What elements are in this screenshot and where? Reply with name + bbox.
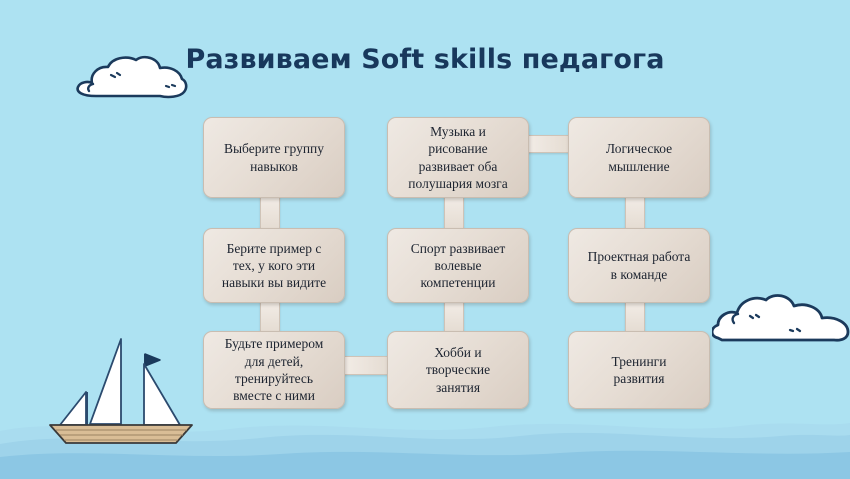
connector-node2-node5	[444, 196, 464, 232]
diagram-node-3-label: Логическое мышление	[606, 140, 672, 175]
connector-node3-node6	[625, 196, 645, 232]
diagram-node-1[interactable]: Выберите группу навыков	[203, 117, 345, 198]
diagram-node-9-label: Тренинги развития	[612, 353, 667, 388]
connector-node5-node8	[444, 301, 464, 335]
connector-node1-node4	[260, 196, 280, 232]
diagram-node-8[interactable]: Хобби и творческие занятия	[387, 331, 529, 409]
connector-node6-node9	[625, 301, 645, 335]
diagram-node-1-label: Выберите группу навыков	[224, 140, 324, 175]
diagram-node-2-label: Музыка и рисование развивает оба полушар…	[408, 123, 507, 192]
diagram-node-5[interactable]: Спорт развивает волевые компетенции	[387, 228, 529, 303]
connector-node4-node7	[260, 301, 280, 335]
slide-canvas: Развиваем Soft skills педагога Выберите …	[0, 0, 850, 479]
diagram-node-5-label: Спорт развивает волевые компетенции	[411, 240, 506, 292]
diagram-node-7-label: Будьте примером для детей, тренируйтесь …	[225, 335, 324, 404]
flow-diagram: Выберите группу навыков Музыка и рисован…	[0, 0, 850, 479]
diagram-node-8-label: Хобби и творческие занятия	[426, 344, 490, 396]
diagram-node-6-label: Проектная работа в команде	[588, 248, 691, 283]
diagram-node-7[interactable]: Будьте примером для детей, тренируйтесь …	[203, 331, 345, 409]
diagram-node-4[interactable]: Берите пример с тех, у кого эти навыки в…	[203, 228, 345, 303]
diagram-node-4-label: Берите пример с тех, у кого эти навыки в…	[222, 240, 326, 292]
diagram-node-2[interactable]: Музыка и рисование развивает оба полушар…	[387, 117, 529, 198]
diagram-node-9[interactable]: Тренинги развития	[568, 331, 710, 409]
diagram-node-3[interactable]: Логическое мышление	[568, 117, 710, 198]
diagram-node-6[interactable]: Проектная работа в команде	[568, 228, 710, 303]
connector-node7-node8	[343, 356, 391, 375]
connector-node2-node3	[527, 135, 572, 153]
